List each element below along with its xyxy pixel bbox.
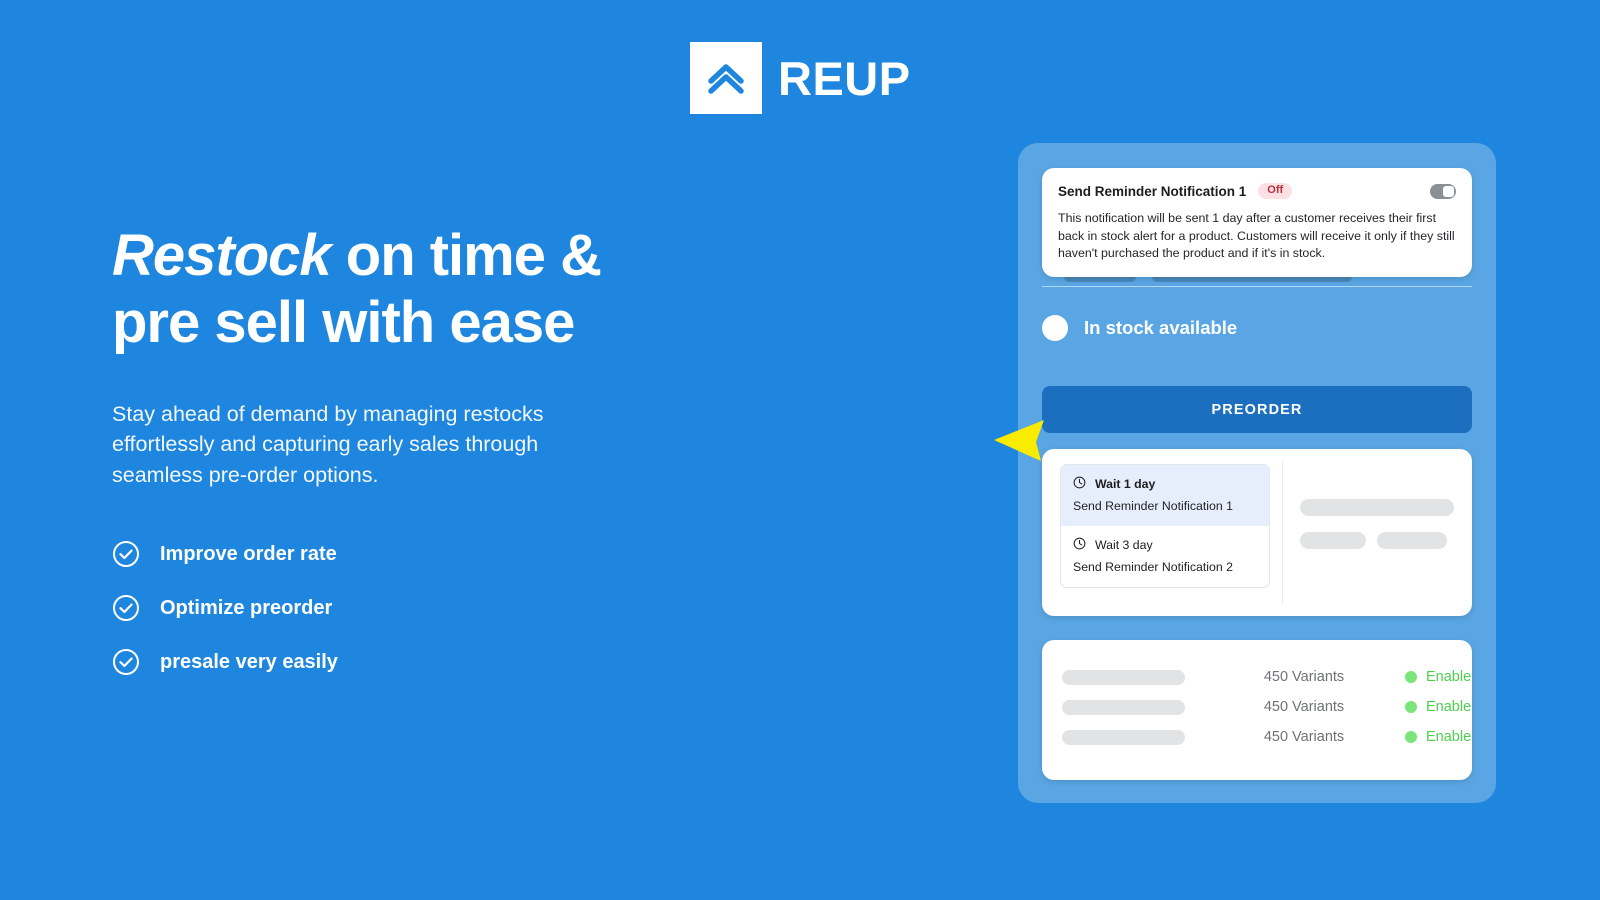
notification-description: This notification will be sent 1 day aft… [1058, 210, 1456, 263]
check-circle-icon [112, 594, 140, 622]
stock-option-label: In stock available [1084, 317, 1237, 339]
skeleton-row [1300, 532, 1454, 549]
radio-icon[interactable] [1042, 315, 1068, 341]
notification-title: Send Reminder Notification 1 [1058, 184, 1246, 199]
hero-content: Restock on time & pre sell with ease Sta… [112, 222, 732, 676]
headline-line2: pre sell with ease [112, 290, 574, 355]
status-badge: Off [1258, 183, 1292, 199]
variant-count: 450 Variants [1229, 669, 1379, 685]
list-item: presale very easily [112, 648, 732, 676]
variant-count: 450 Variants [1229, 699, 1379, 715]
list-item: Improve order rate [112, 540, 732, 568]
double-chevron-up-icon [690, 42, 762, 114]
skeleton-bar [1377, 532, 1447, 549]
feature-list: Improve order rate Optimize preorder [112, 540, 732, 676]
variant-status-label: Enable [1426, 669, 1471, 685]
variants-card: 450 Variants Enable 450 Variants Enable … [1042, 640, 1472, 780]
automation-flow-card: Wait 1 day Send Reminder Notification 1 … [1042, 449, 1472, 616]
page-title: Restock on time & pre sell with ease [112, 222, 732, 357]
brand-name: REUP [778, 55, 911, 102]
skeleton-bar [1300, 532, 1366, 549]
table-row: 450 Variants Enable [1062, 662, 1452, 692]
card-stack-shadow [1152, 277, 1352, 282]
table-row: 450 Variants Enable [1062, 722, 1452, 752]
skeleton-bar [1062, 730, 1185, 745]
variant-status[interactable]: Enable [1405, 699, 1471, 715]
skeleton-bar [1062, 670, 1185, 685]
hero-subtitle: Stay ahead of demand by managing restock… [112, 399, 582, 491]
list-item-label: Optimize preorder [160, 597, 332, 620]
clock-icon [1073, 476, 1086, 492]
flow-step-2-wait-label: Wait 3 day [1095, 538, 1153, 552]
check-circle-icon [112, 648, 140, 676]
panel-divider [1042, 286, 1472, 287]
flow-step-2-action: Send Reminder Notification 2 [1073, 560, 1257, 587]
variant-count: 450 Variants [1229, 729, 1379, 745]
list-item: Optimize preorder [112, 594, 732, 622]
status-dot-icon [1405, 701, 1417, 713]
list-item-label: Improve order rate [160, 543, 337, 566]
toggle-knob [1443, 186, 1454, 197]
preorder-button[interactable]: PREORDER [1042, 386, 1472, 433]
variant-status[interactable]: Enable [1405, 669, 1471, 685]
flow-step-1-wait-label: Wait 1 day [1095, 477, 1155, 491]
flow-vertical-divider [1282, 461, 1283, 604]
flow-step-list: Wait 1 day Send Reminder Notification 1 … [1060, 464, 1270, 588]
variant-status[interactable]: Enable [1405, 729, 1471, 745]
stock-option-row[interactable]: In stock available [1042, 315, 1237, 341]
promo-banner: REUP Restock on time & pre sell with eas… [0, 0, 1600, 900]
skeleton-bar [1062, 700, 1185, 715]
status-dot-icon [1405, 731, 1417, 743]
notification-toggle[interactable] [1430, 184, 1456, 199]
notification-header: Send Reminder Notification 1 Off [1058, 183, 1456, 199]
flow-step-2[interactable]: Wait 3 day Send Reminder Notification 2 [1061, 526, 1269, 587]
skeleton-bar [1300, 499, 1454, 516]
flow-step-1[interactable]: Wait 1 day Send Reminder Notification 1 [1061, 465, 1269, 526]
table-row: 450 Variants Enable [1062, 692, 1452, 722]
pointer-arrow-icon [992, 418, 1050, 469]
flow-step-2-wait: Wait 3 day [1073, 526, 1257, 560]
flow-step-1-action: Send Reminder Notification 1 [1073, 499, 1257, 526]
clock-icon [1073, 537, 1086, 553]
flow-detail-placeholder [1300, 499, 1454, 549]
card-stack-shadow [1064, 277, 1136, 282]
notification-card: Send Reminder Notification 1 Off This no… [1042, 168, 1472, 277]
check-circle-icon [112, 540, 140, 568]
list-item-label: presale very easily [160, 651, 338, 674]
status-dot-icon [1405, 671, 1417, 683]
flow-step-1-wait: Wait 1 day [1073, 465, 1257, 499]
variant-status-label: Enable [1426, 729, 1471, 745]
brand-logo: REUP [690, 42, 911, 114]
headline-rest: on time & [331, 223, 601, 288]
headline-emphasis: Restock [112, 223, 331, 288]
variant-status-label: Enable [1426, 699, 1471, 715]
app-preview-panel: Send Reminder Notification 1 Off This no… [1018, 143, 1496, 803]
